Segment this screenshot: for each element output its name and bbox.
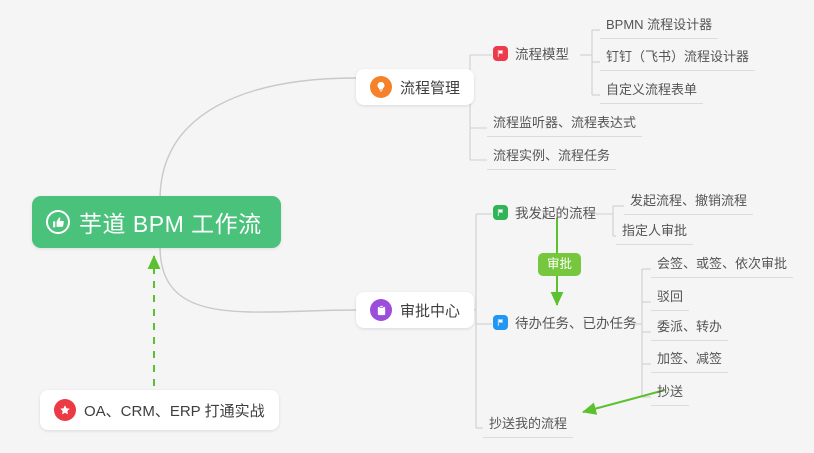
branch-label-approval-center: 审批中心 xyxy=(400,300,460,321)
integration-note-label: OA、CRM、ERP 打通实战 xyxy=(84,400,265,421)
edge-root-to-approval-center xyxy=(160,246,356,312)
root-label: 芋道 BPM 工作流 xyxy=(79,205,262,239)
approve-annotation-tag[interactable]: 审批 xyxy=(538,253,581,276)
flag-blue-icon xyxy=(493,315,508,330)
edge-root-to-process-management xyxy=(160,78,356,200)
lightbulb-icon xyxy=(370,76,392,98)
leaf-delegate-transfer[interactable]: 委派、转办 xyxy=(651,313,728,341)
subbranch-label-process-model: 流程模型 xyxy=(515,43,569,63)
leaf-carbon-copy[interactable]: 抄送 xyxy=(651,378,689,406)
leaf-listener-expression[interactable]: 流程监听器、流程表达式 xyxy=(487,109,642,137)
clipboard-icon xyxy=(370,299,392,321)
branch-label-process-management: 流程管理 xyxy=(400,77,460,98)
leaf-instance-task[interactable]: 流程实例、流程任务 xyxy=(487,142,616,170)
leaf-cc-my-processes[interactable]: 抄送我的流程 xyxy=(483,410,573,438)
flag-red-icon xyxy=(493,46,508,61)
mindmap-canvas: 芋道 BPM 工作流 OA、CRM、ERP 打通实战 流程管理 流程模型 BPM… xyxy=(0,0,814,453)
root-node[interactable]: 芋道 BPM 工作流 xyxy=(32,196,281,248)
branch-node-approval-center[interactable]: 审批中心 xyxy=(356,292,474,328)
leaf-custom-form[interactable]: 自定义流程表单 xyxy=(600,76,703,104)
leaf-add-remove-sign[interactable]: 加签、减签 xyxy=(651,345,728,373)
star-icon xyxy=(54,399,76,421)
leaf-countersign[interactable]: 会签、或签、依次审批 xyxy=(651,250,793,278)
subbranch-label-todo-done-tasks: 待办任务、已办任务 xyxy=(515,312,637,332)
leaf-reject[interactable]: 驳回 xyxy=(651,283,689,311)
subbranch-my-started-processes[interactable]: 我发起的流程 xyxy=(493,202,596,222)
thumbs-up-icon xyxy=(46,210,70,234)
subbranch-process-model[interactable]: 流程模型 xyxy=(493,43,569,63)
leaf-bpmn-designer[interactable]: BPMN 流程设计器 xyxy=(600,11,718,39)
subbranch-todo-done-tasks[interactable]: 待办任务、已办任务 xyxy=(493,312,637,332)
leaf-assignee-approve[interactable]: 指定人审批 xyxy=(616,217,693,245)
integration-note-node[interactable]: OA、CRM、ERP 打通实战 xyxy=(40,390,279,430)
leaf-dingtalk-designer[interactable]: 钉钉（飞书）流程设计器 xyxy=(600,43,755,71)
leaf-start-cancel[interactable]: 发起流程、撤销流程 xyxy=(624,187,753,215)
subbranch-label-my-started-processes: 我发起的流程 xyxy=(515,202,596,222)
flag-green-icon xyxy=(493,205,508,220)
branch-node-process-management[interactable]: 流程管理 xyxy=(356,69,474,105)
